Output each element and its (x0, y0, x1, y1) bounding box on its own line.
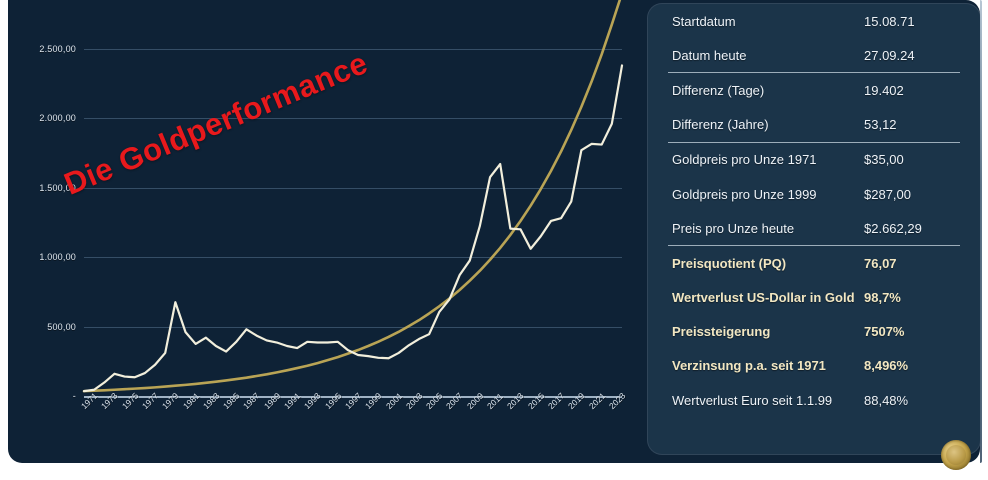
price-line (84, 65, 622, 391)
stat-row: Goldpreis pro Unze 1999$287,00 (648, 177, 980, 211)
stat-value: 19.402 (864, 83, 956, 98)
stat-label: Goldpreis pro Unze 1999 (672, 187, 864, 202)
stat-row: Preissteigerung7507% (648, 315, 980, 349)
stat-row: Wertverlust Euro seit 1.1.9988,48% (648, 383, 980, 417)
gold-coin-face (946, 445, 966, 465)
gold-performance-card: -500,001.000,001.500,002.000,002.500,00 … (8, 0, 980, 463)
stat-label: Startdatum (672, 14, 864, 29)
stat-label: Verzinsung p.a. seit 1971 (672, 358, 864, 373)
statistics-panel: Startdatum15.08.71Datum heute27.09.24Dif… (648, 4, 980, 454)
stat-row: Startdatum15.08.71 (648, 4, 980, 38)
stat-row: Differenz (Tage)19.402 (648, 73, 980, 107)
stat-value: 27.09.24 (864, 48, 956, 63)
stat-label: Preisquotient (PQ) (672, 256, 864, 271)
stat-value: 8,496% (864, 358, 956, 373)
stat-label: Wertverlust US-Dollar in Gold (672, 290, 864, 305)
stat-label: Goldpreis pro Unze 1971 (672, 152, 864, 167)
stat-value: 76,07 (864, 256, 956, 271)
stat-row: Goldpreis pro Unze 1971$35,00 (648, 143, 980, 177)
stat-label: Preis pro Unze heute (672, 221, 864, 236)
gold-price-chart: -500,001.000,001.500,002.000,002.500,00 … (8, 0, 640, 463)
stat-value: $287,00 (864, 187, 956, 202)
stat-label: Differenz (Tage) (672, 83, 864, 98)
stat-row: Wertverlust US-Dollar in Gold98,7% (648, 281, 980, 315)
statistics-rows: Startdatum15.08.71Datum heute27.09.24Dif… (648, 4, 980, 417)
stat-label: Differenz (Jahre) (672, 117, 864, 132)
stat-value: 98,7% (864, 290, 956, 305)
stat-row: Datum heute27.09.24 (648, 38, 980, 72)
stat-value: 7507% (864, 324, 956, 339)
stat-value: 88,48% (864, 393, 956, 408)
stat-value: 15.08.71 (864, 14, 956, 29)
stat-value: 53,12 (864, 117, 956, 132)
stat-row: Verzinsung p.a. seit 19718,496% (648, 349, 980, 383)
stat-label: Wertverlust Euro seit 1.1.99 (672, 393, 864, 408)
stat-row: Preisquotient (PQ)76,07 (648, 246, 980, 280)
stat-label: Preissteigerung (672, 324, 864, 339)
stat-value: $2.662,29 (864, 221, 956, 236)
gold-coin-icon (941, 440, 971, 470)
stat-label: Datum heute (672, 48, 864, 63)
stat-row: Preis pro Unze heute$2.662,29 (648, 211, 980, 245)
screenshot-root: -500,001.000,001.500,002.000,002.500,00 … (0, 0, 988, 480)
stat-row: Differenz (Jahre)53,12 (648, 108, 980, 142)
stat-value: $35,00 (864, 152, 956, 167)
